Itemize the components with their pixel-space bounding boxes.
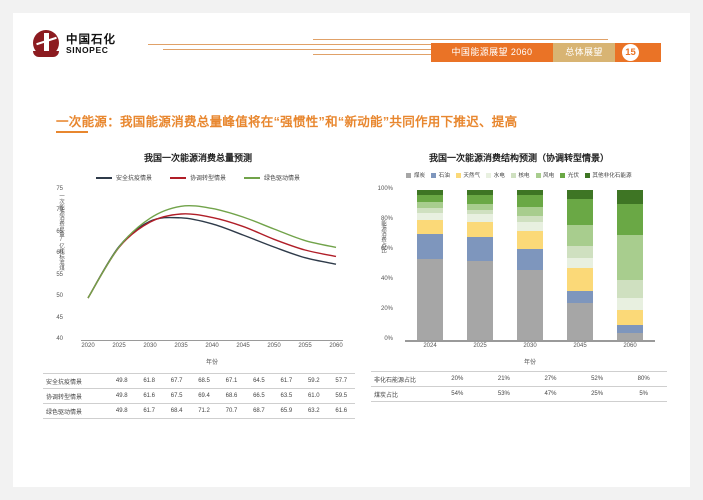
legend-swatch-icon xyxy=(536,173,541,178)
table-row-label: 安全抗疫情景 xyxy=(43,374,108,389)
bar-segment xyxy=(417,195,443,203)
bar-segment xyxy=(617,333,643,341)
legend-item-0: 煤炭 xyxy=(406,171,425,179)
legend-swatch-icon xyxy=(431,173,436,178)
bar-segment xyxy=(567,190,593,199)
table-cell: 47% xyxy=(527,387,574,402)
bar-segment xyxy=(617,310,643,325)
right-y-tick: 40% xyxy=(367,276,393,282)
bar-segment xyxy=(617,325,643,333)
right-chart-ylabel: 能源消费占比 xyxy=(379,220,387,312)
right-x-axis xyxy=(405,340,655,342)
stacked-bar xyxy=(517,190,543,340)
bar-segment xyxy=(517,270,543,341)
legend-label: 石油 xyxy=(439,171,450,179)
bar-segment xyxy=(617,235,643,280)
legend-swatch-icon xyxy=(560,173,565,178)
table-cell: 70.7 xyxy=(218,404,245,419)
left-x-tick: 2030 xyxy=(137,343,163,349)
header-rule-3 xyxy=(313,39,608,40)
bar-segment xyxy=(417,220,443,234)
table-cell: 80% xyxy=(620,372,667,387)
right-y-tick: 60% xyxy=(367,246,393,252)
left-chart-xlabel: 年份 xyxy=(81,357,343,366)
title-underline xyxy=(56,131,88,133)
table-cell: 52% xyxy=(574,372,621,387)
table-cell: 67.5 xyxy=(163,389,190,404)
table-row: 协调转型情景49.861.667.569.468.666.563.561.059… xyxy=(43,389,355,404)
table-cell: 68.4 xyxy=(163,404,190,419)
header-tag-report-title: 中国能源展望 2060 xyxy=(431,43,553,62)
legend-label: 煤炭 xyxy=(414,171,425,179)
stacked-bar xyxy=(617,190,643,340)
left-x-tick: 2045 xyxy=(230,343,256,349)
left-chart-legend: 安全抗疫情景协调转型情景绿色驱动情景 xyxy=(33,173,363,182)
bar-segment xyxy=(617,280,643,298)
table-cell: 49.8 xyxy=(108,374,135,389)
bar-segment xyxy=(517,249,543,270)
left-x-tick: 2050 xyxy=(261,343,287,349)
bar-segment xyxy=(517,222,543,231)
legend-item-1: 石油 xyxy=(431,171,450,179)
legend-swatch-icon xyxy=(511,173,516,178)
bar-segment xyxy=(417,213,443,221)
right-x-tick: 2045 xyxy=(565,343,595,349)
legend-item-2: 绿色驱动情景 xyxy=(244,173,300,182)
table-cell: 5% xyxy=(620,387,667,402)
table-cell: 61.7 xyxy=(273,374,300,389)
legend-line-icon xyxy=(244,177,260,179)
table-cell: 67.1 xyxy=(218,374,245,389)
left-y-tick: 70 xyxy=(41,207,63,213)
legend-label: 绿色驱动情景 xyxy=(264,173,300,182)
table-cell: 61.6 xyxy=(135,389,162,404)
table-row-label: 绿色驱动情景 xyxy=(43,404,108,419)
sinopec-logo: 中国石化 SINOPEC xyxy=(32,29,142,57)
table-cell: 69.4 xyxy=(190,389,217,404)
sinopec-logo-icon xyxy=(32,29,62,57)
left-y-tick: 40 xyxy=(41,336,63,342)
right-chart-title: 我国一次能源消费结构预测（协调转型情景） xyxy=(365,151,673,164)
table-row-label: 煤炭占比 xyxy=(371,387,434,402)
table-row: 安全抗疫情景49.861.867.768.567.164.561.759.257… xyxy=(43,374,355,389)
legend-label: 安全抗疫情景 xyxy=(116,173,152,182)
bar-segment xyxy=(567,199,593,225)
slide-canvas: 中国石化 SINOPEC 中国能源展望 2060 总体展望 15 一次能源：我国… xyxy=(13,13,690,487)
legend-item-2: 天然气 xyxy=(456,171,480,179)
legend-line-icon xyxy=(96,177,112,179)
stacked-bar xyxy=(417,190,443,340)
table-cell: 21% xyxy=(481,372,528,387)
legend-swatch-icon xyxy=(406,173,411,178)
right-chart-panel: 我国一次能源消费结构预测（协调转型情景） 煤炭石油天然气水电核电风电光伏其他非化… xyxy=(365,145,673,430)
bar-segment xyxy=(467,222,493,237)
table-cell: 67.7 xyxy=(163,374,190,389)
table-cell: 63.2 xyxy=(300,404,327,419)
table-cell: 49.8 xyxy=(108,389,135,404)
table-cell: 25% xyxy=(574,387,621,402)
left-y-tick: 60 xyxy=(41,250,63,256)
bar-segment xyxy=(467,190,493,195)
bar-segment xyxy=(517,231,543,249)
right-chart-xlabel: 年份 xyxy=(405,357,655,366)
right-x-tick: 2024 xyxy=(415,343,445,349)
legend-label: 风电 xyxy=(543,171,554,179)
table-row-label: 非化石能源占比 xyxy=(371,372,434,387)
bar-segment xyxy=(467,195,493,204)
bar-segment xyxy=(467,261,493,341)
bar-segment xyxy=(567,291,593,303)
table-cell: 61.0 xyxy=(300,389,327,404)
table-row-label: 协调转型情景 xyxy=(43,389,108,404)
left-x-tick: 2035 xyxy=(168,343,194,349)
bar-segment xyxy=(617,204,643,236)
bar-segment xyxy=(467,204,493,210)
stacked-bar xyxy=(467,190,493,340)
table-cell: 53% xyxy=(481,387,528,402)
table-cell: 68.6 xyxy=(218,389,245,404)
legend-line-icon xyxy=(170,177,186,179)
table-cell: 59.2 xyxy=(300,374,327,389)
table-row: 绿色驱动情景49.861.768.471.270.768.765.963.261… xyxy=(43,404,355,419)
bar-segment xyxy=(567,258,593,269)
legend-item-4: 核电 xyxy=(511,171,530,179)
left-y-tick: 50 xyxy=(41,293,63,299)
bar-segment xyxy=(417,190,443,195)
legend-label: 核电 xyxy=(518,171,529,179)
line-series xyxy=(88,206,336,298)
table-cell: 59.5 xyxy=(328,389,356,404)
table-cell: 57.7 xyxy=(328,374,356,389)
bar-segment xyxy=(517,190,543,195)
bar-segment xyxy=(517,207,543,216)
left-y-tick: 65 xyxy=(41,229,63,235)
left-y-tick: 55 xyxy=(41,272,63,278)
table-cell: 27% xyxy=(527,372,574,387)
table-cell: 61.7 xyxy=(135,404,162,419)
left-x-tick: 2040 xyxy=(199,343,225,349)
left-x-tick: 2020 xyxy=(75,343,101,349)
left-x-axis xyxy=(81,340,343,341)
right-y-tick: 20% xyxy=(367,306,393,312)
bar-segment xyxy=(567,246,593,258)
bar-segment xyxy=(417,202,443,208)
legend-item-1: 协调转型情景 xyxy=(170,173,226,182)
stacked-bar xyxy=(567,190,593,340)
right-chart-plot xyxy=(405,190,655,340)
legend-label: 水电 xyxy=(494,171,505,179)
table-cell: 64.5 xyxy=(245,374,272,389)
page-title: 一次能源：我国能源消费总量峰值将在“强惯性”和“新动能”共同作用下推迟、提高 xyxy=(56,111,517,130)
right-y-tick: 80% xyxy=(367,216,393,222)
table-cell: 66.5 xyxy=(245,389,272,404)
bar-segment xyxy=(467,214,493,222)
line-series xyxy=(88,217,336,298)
bar-segment xyxy=(467,237,493,261)
right-data-table: 非化石能源占比20%21%27%52%80%煤炭占比54%53%47%25%5% xyxy=(371,371,667,402)
left-chart-title: 我国一次能源消费总量预测 xyxy=(33,151,363,164)
table-cell: 54% xyxy=(434,387,481,402)
legend-item-7: 其他非化石能源 xyxy=(585,171,632,179)
slide-header: 中国石化 SINOPEC 中国能源展望 2060 总体展望 15 xyxy=(13,13,690,63)
bar-segment xyxy=(467,210,493,215)
right-y-tick: 100% xyxy=(367,186,393,192)
legend-label: 天然气 xyxy=(463,171,480,179)
legend-item-0: 安全抗疫情景 xyxy=(96,173,152,182)
logo-english-name: SINOPEC xyxy=(66,45,108,55)
bar-segment xyxy=(617,190,643,204)
legend-swatch-icon xyxy=(585,173,590,178)
bar-segment xyxy=(567,225,593,246)
page-number-badge: 15 xyxy=(622,44,639,61)
right-y-tick: 0% xyxy=(367,336,393,342)
table-row: 非化石能源占比20%21%27%52%80% xyxy=(371,372,667,387)
table-cell: 68.5 xyxy=(190,374,217,389)
legend-swatch-icon xyxy=(456,173,461,178)
table-cell: 61.6 xyxy=(328,404,356,419)
legend-swatch-icon xyxy=(486,173,491,178)
bar-segment xyxy=(417,234,443,260)
bar-segment xyxy=(617,298,643,310)
left-x-tick: 2060 xyxy=(323,343,349,349)
left-x-tick: 2055 xyxy=(292,343,318,349)
right-x-tick: 2030 xyxy=(515,343,545,349)
legend-label: 协调转型情景 xyxy=(190,173,226,182)
legend-item-6: 光伏 xyxy=(560,171,579,179)
legend-label: 光伏 xyxy=(568,171,579,179)
table-cell: 61.8 xyxy=(135,374,162,389)
bar-segment xyxy=(567,303,593,341)
right-x-tick: 2025 xyxy=(465,343,495,349)
table-cell: 63.5 xyxy=(273,389,300,404)
bar-segment xyxy=(417,259,443,340)
legend-item-3: 水电 xyxy=(486,171,505,179)
header-tag-section: 总体展望 xyxy=(553,43,615,62)
table-cell: 49.8 xyxy=(108,404,135,419)
table-cell: 20% xyxy=(434,372,481,387)
left-y-tick: 45 xyxy=(41,315,63,321)
legend-label: 其他非化石能源 xyxy=(592,171,631,179)
right-chart-legend: 煤炭石油天然气水电核电风电光伏其他非化石能源 xyxy=(365,171,673,179)
bar-segment xyxy=(567,268,593,291)
left-line-svg xyxy=(81,190,343,340)
left-chart-plot xyxy=(81,190,343,340)
table-cell: 65.9 xyxy=(273,404,300,419)
right-x-tick: 2060 xyxy=(615,343,645,349)
table-cell: 71.2 xyxy=(190,404,217,419)
bar-segment xyxy=(417,208,443,213)
left-data-table: 安全抗疫情景49.861.867.768.567.164.561.759.257… xyxy=(43,373,355,419)
left-y-tick: 75 xyxy=(41,186,63,192)
bar-segment xyxy=(517,216,543,222)
legend-item-5: 风电 xyxy=(536,171,555,179)
bar-segment xyxy=(517,195,543,207)
table-cell: 68.7 xyxy=(245,404,272,419)
table-row: 煤炭占比54%53%47%25%5% xyxy=(371,387,667,402)
left-chart-panel: 我国一次能源消费总量预测 安全抗疫情景协调转型情景绿色驱动情景 一次能源消费总量… xyxy=(33,145,363,430)
left-x-tick: 2025 xyxy=(106,343,132,349)
